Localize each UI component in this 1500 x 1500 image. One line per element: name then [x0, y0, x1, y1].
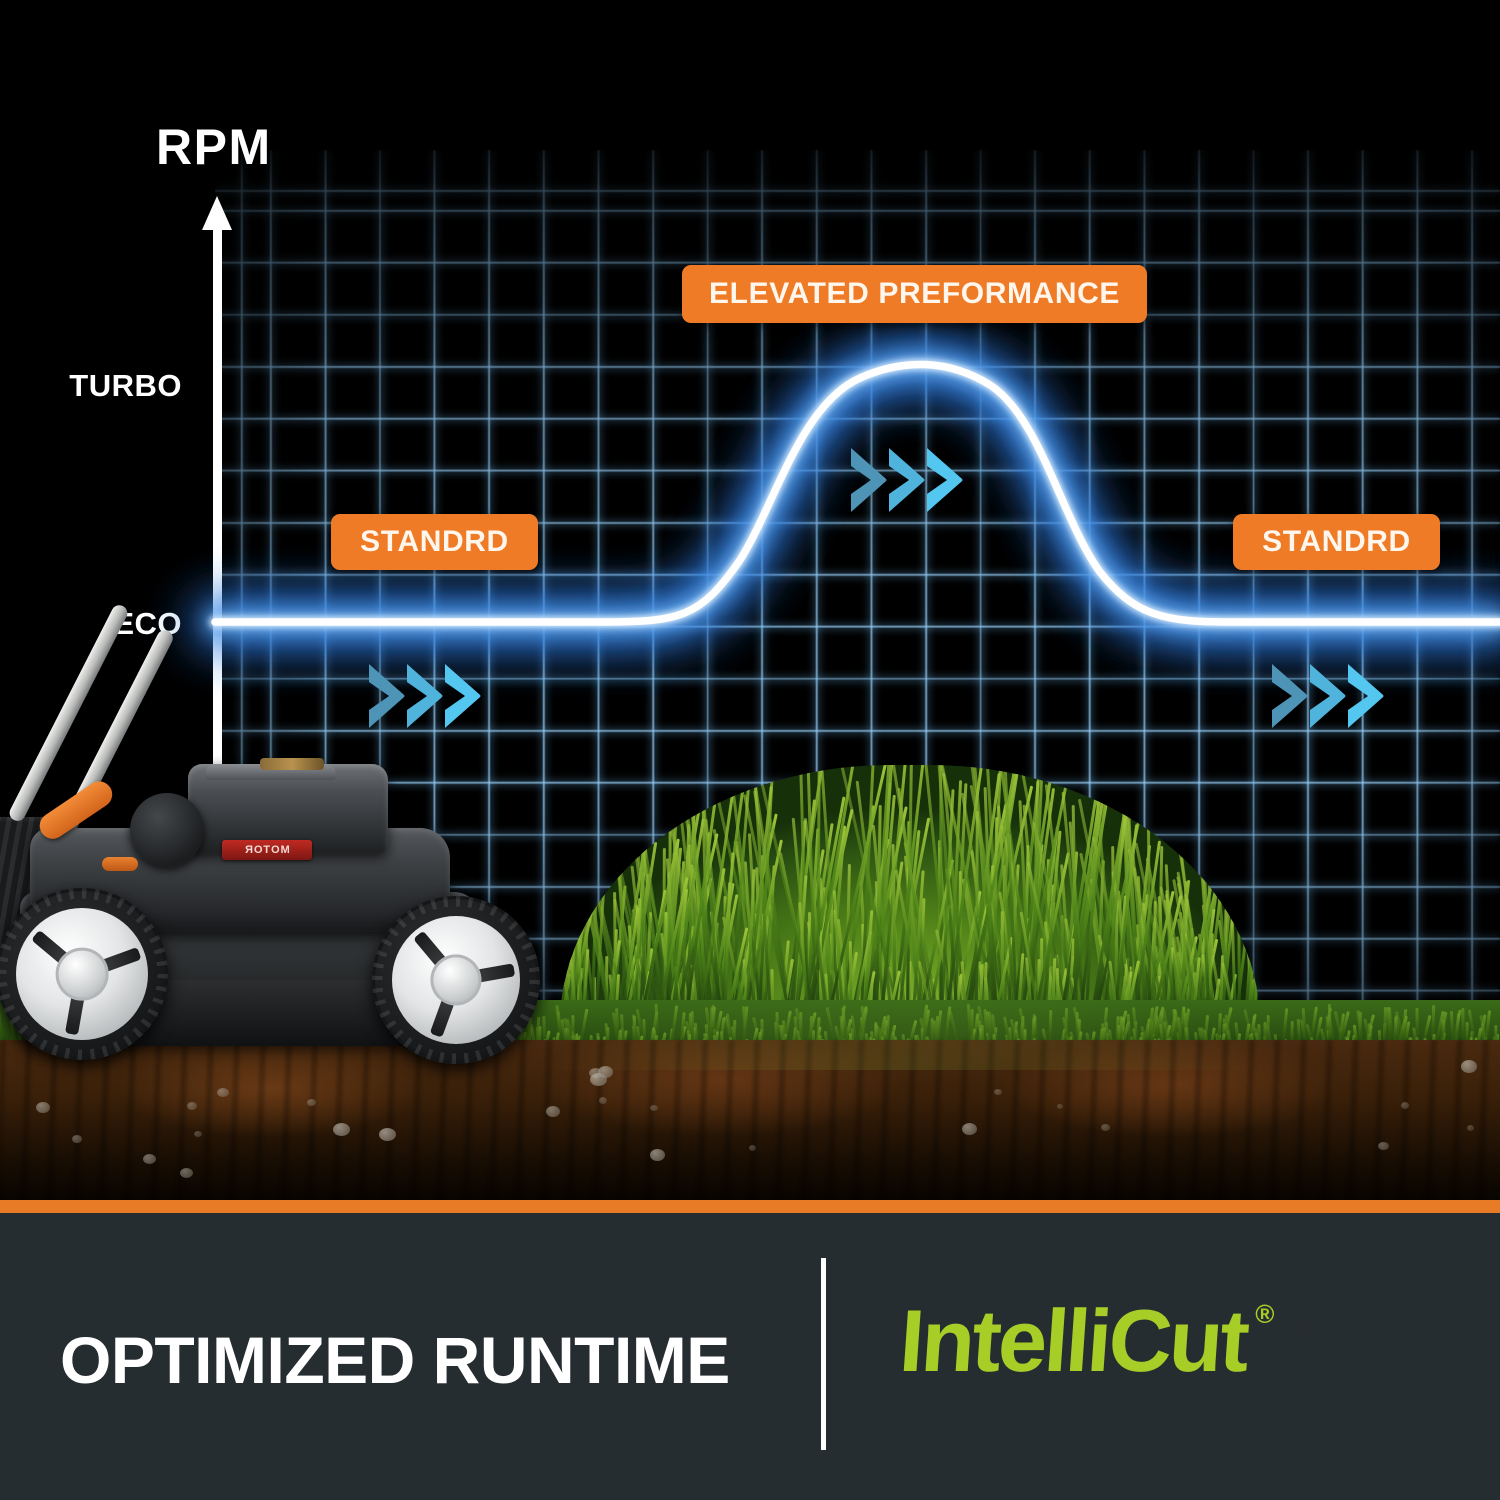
- badge-standard-right[interactable]: STANDRD: [1233, 514, 1440, 570]
- badge-standard-left[interactable]: STANDRD: [331, 514, 538, 570]
- y-axis-title: RPM: [156, 118, 272, 176]
- footer-headline: OPTIMIZED RUNTIME: [60, 1322, 730, 1398]
- chevron-group-turbo: [845, 444, 959, 516]
- mower-handle-pivot: [130, 793, 204, 867]
- badge-elevated-performance[interactable]: ELEVATED PREFORMANCE: [682, 265, 1147, 323]
- footer-brand-bar: OPTIMIZED RUNTIME IntelliCut ®: [0, 1200, 1500, 1500]
- chevron-icon-3: [921, 444, 967, 516]
- logo-wordmark: IntelliCut: [897, 1297, 1250, 1385]
- mower-battery-contacts: [260, 758, 324, 770]
- footer-divider: [821, 1258, 826, 1450]
- logo-part-c: C: [1105, 1291, 1172, 1390]
- mower-rear-wheel: [0, 888, 168, 1060]
- y-tick-turbo: TURBO: [69, 368, 182, 404]
- logo-part-three: ut: [1166, 1291, 1250, 1390]
- wheel-hub: [392, 916, 520, 1044]
- logo-registered-mark: ®: [1255, 1299, 1274, 1330]
- mower-orange-lever: [102, 857, 138, 871]
- mower-motor-badge-label: MOTOR: [244, 844, 290, 856]
- soil-texture: [0, 1040, 1500, 1200]
- rpm-chart: RPM TURBO ECO: [0, 0, 1500, 1200]
- mower-front-wheel: [372, 896, 540, 1064]
- chevron-group-eco-right: [1266, 660, 1380, 732]
- logo-signal-arcs-icon: [1288, 1307, 1326, 1345]
- lawn-mower-product: MOTOR: [0, 692, 600, 1052]
- chevron-icon-3: [1342, 660, 1388, 732]
- wheel-hub: [16, 908, 148, 1040]
- footer-orange-stripe: [0, 1200, 1500, 1213]
- wheel-cap: [430, 954, 481, 1005]
- mower-motor-badge: MOTOR: [222, 840, 312, 860]
- product-infographic: RPM TURBO ECO: [0, 0, 1500, 1500]
- logo-part-one: Intelli: [897, 1291, 1113, 1390]
- intellicut-logo: IntelliCut ®: [900, 1297, 1246, 1407]
- wheel-cap: [56, 948, 109, 1001]
